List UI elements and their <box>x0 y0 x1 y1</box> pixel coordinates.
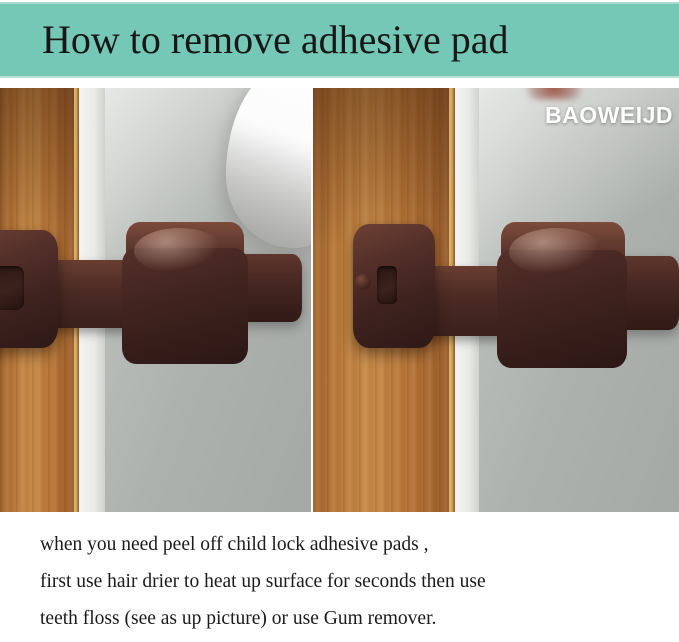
wood-shadow <box>0 88 74 249</box>
caption-line-1: when you need peel off child lock adhesi… <box>40 526 659 563</box>
lock-slot-left <box>377 266 397 304</box>
photo-divider <box>311 88 313 512</box>
caption-block: when you need peel off child lock adhesi… <box>0 512 679 642</box>
lock-buckle-face <box>497 250 627 368</box>
caption-line-2: first use hair drier to heat up surface … <box>40 563 659 600</box>
photo-right: BAOWEIJD <box>311 88 679 512</box>
brand-watermark: BAOWEIJD <box>545 102 673 129</box>
instruction-photo-strip: BAOWEIJD <box>0 88 679 512</box>
lock-release-button <box>355 274 371 290</box>
lock-slot-left <box>0 266 24 310</box>
lock-buckle-face <box>122 248 248 364</box>
header-banner: How to remove adhesive pad <box>0 2 679 78</box>
page-title: How to remove adhesive pad <box>42 11 509 69</box>
photo-left <box>0 88 311 512</box>
background-blur-blob <box>527 88 581 100</box>
caption-line-3: teeth floss (see as up picture) or use G… <box>40 600 659 637</box>
